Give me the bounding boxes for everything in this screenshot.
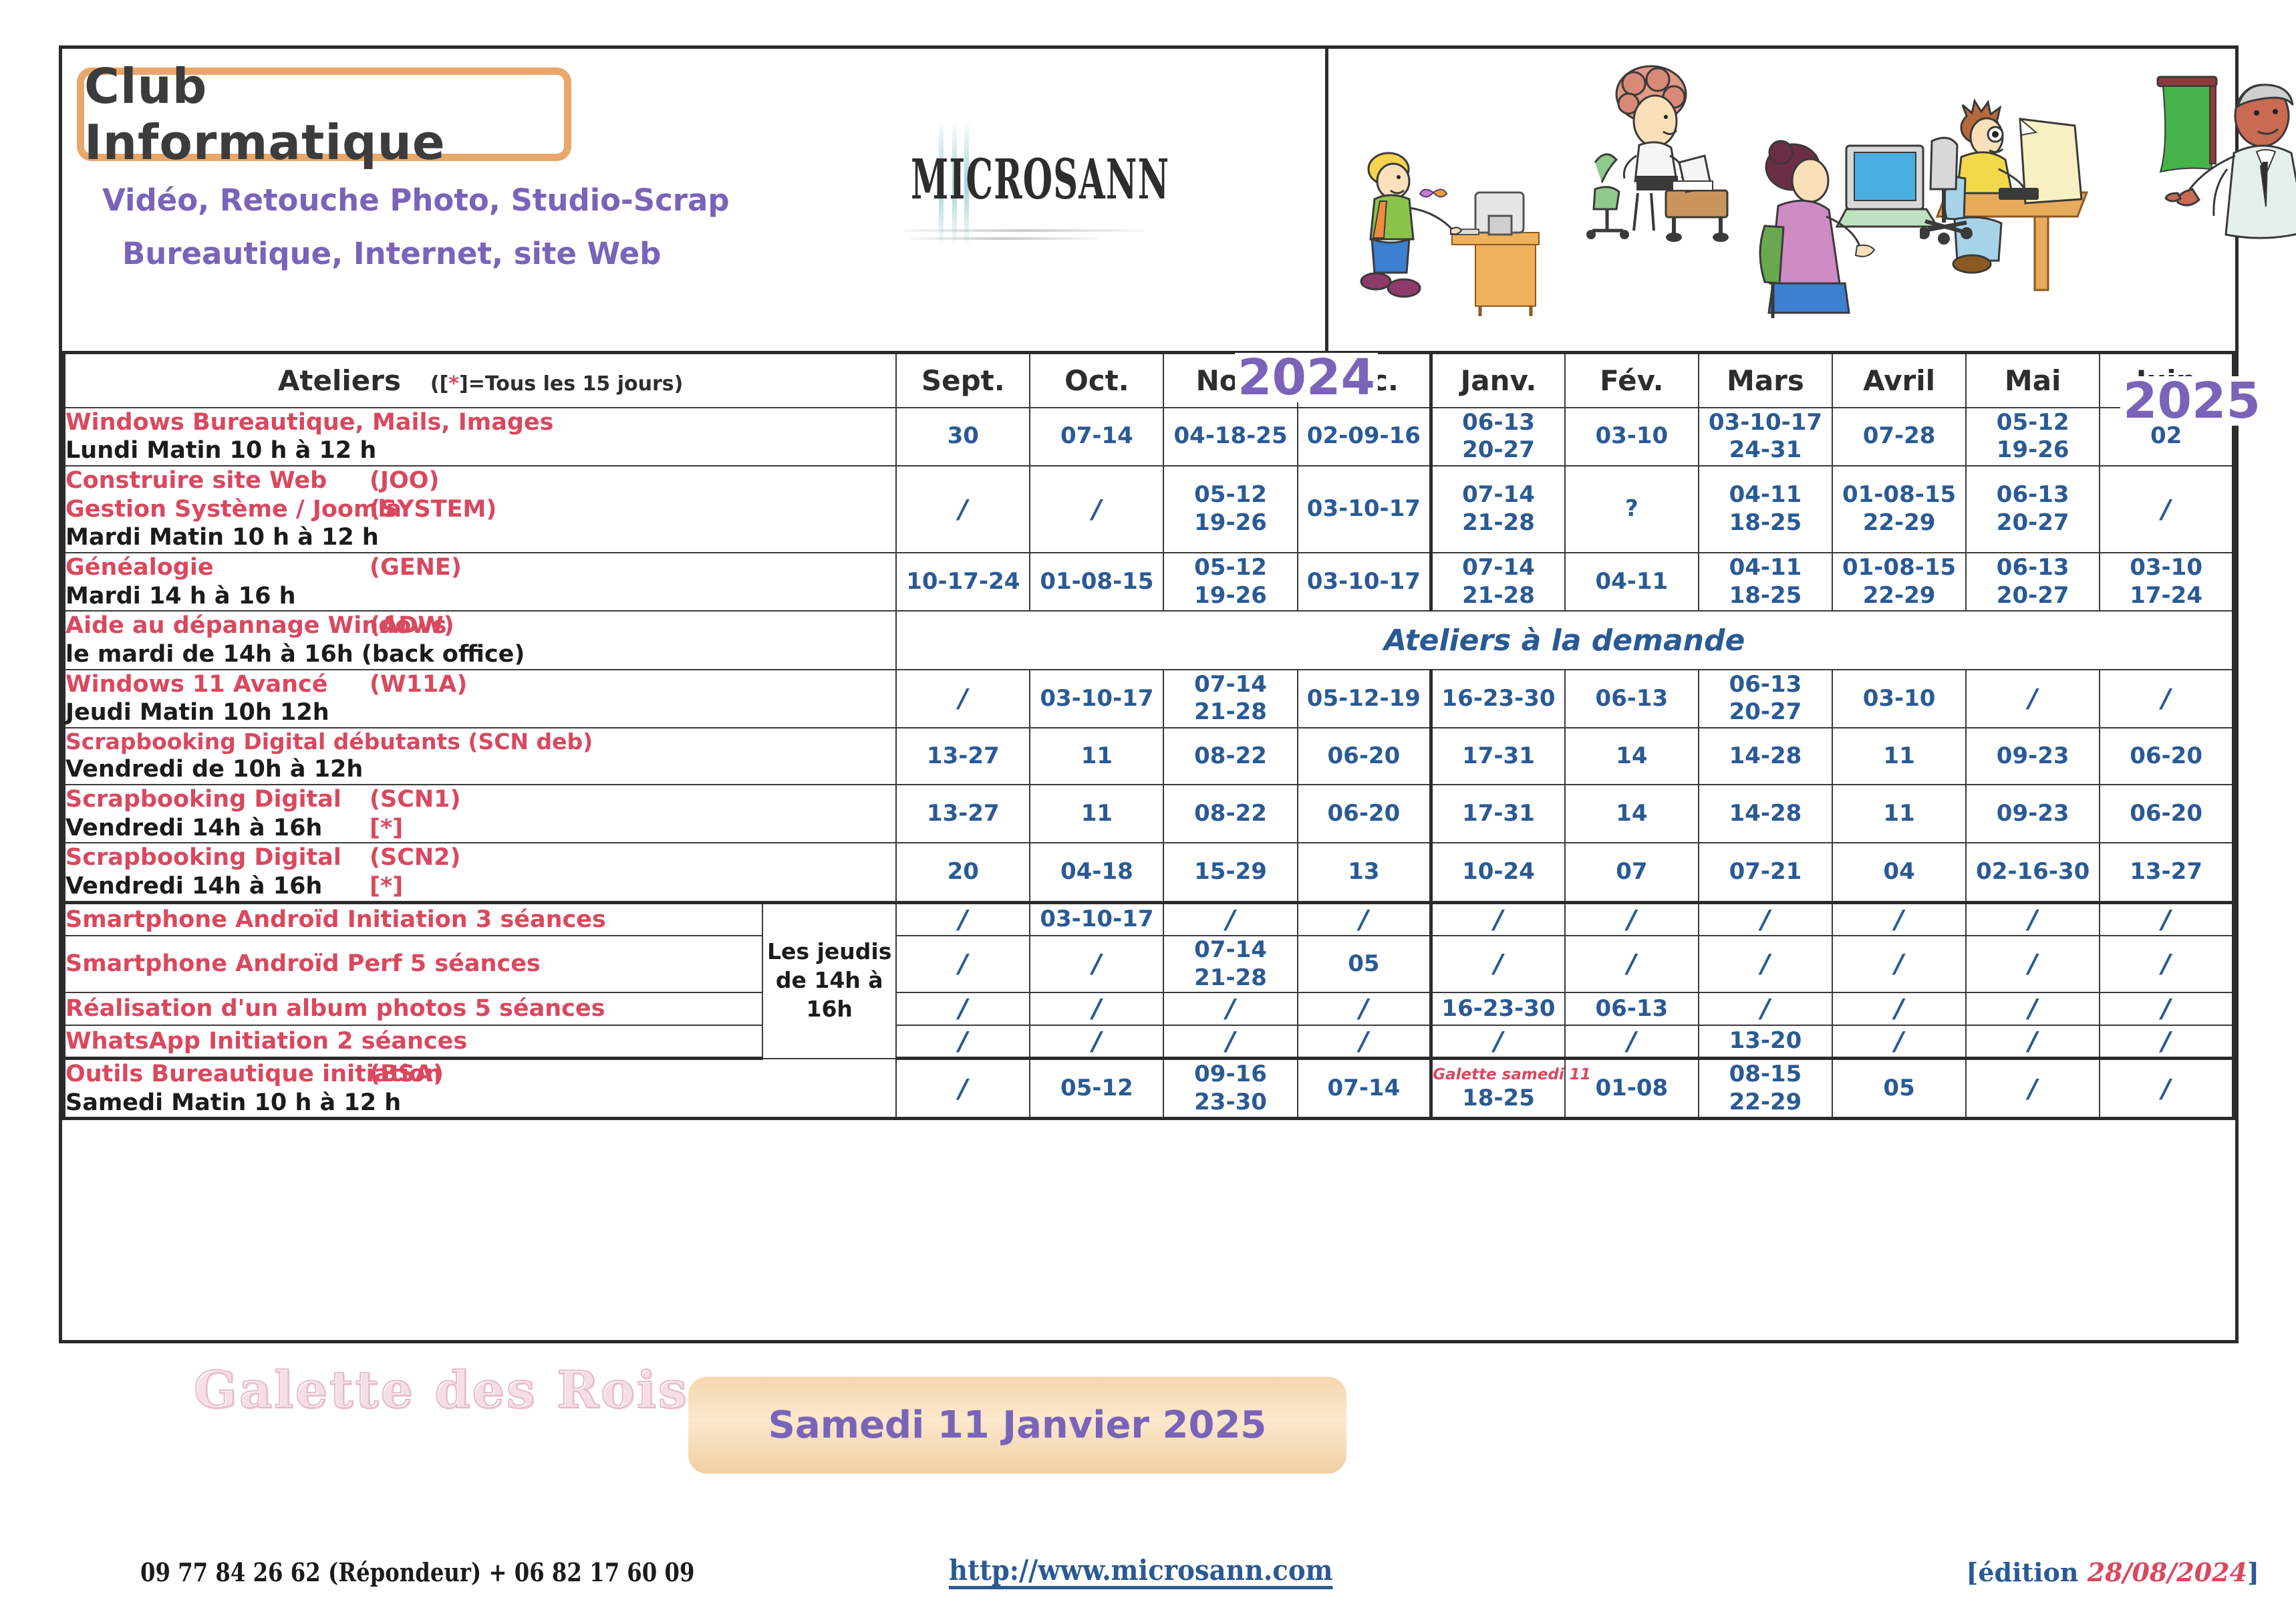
cell-r0-c3: 02-09-16 (1298, 408, 1431, 466)
cell-r2-c8: 06-1320-27 (1966, 553, 2100, 611)
cell-r7-c4: 10-24 (1431, 843, 1565, 902)
row-label-outils-bureautique: Outils Bureautique initiation(BSA) Samed… (64, 1059, 897, 1119)
cell-t3-c5: / (1565, 1025, 1699, 1059)
cell-r7-c2: 15-29 (1163, 843, 1297, 902)
table-row: Scrapbooking Digital débutants (SCN deb)… (64, 728, 2234, 785)
atelier-schedule: Mardi 14 h à 16 h (65, 582, 895, 611)
cell-t1-c0: / (896, 936, 1030, 992)
cell-t1-c8: / (1966, 936, 2100, 992)
cell-t0-c1: 03-10-17 (1030, 902, 1163, 936)
atelier-schedule-line: Vendredi 14h à 16h[*] (65, 814, 895, 843)
atelier-schedule: Samedi Matin 10 h à 12 h (65, 1089, 895, 1117)
cell-r0-c2: 04-18-25 (1163, 408, 1297, 466)
cell-r0-c8: 05-1219-26 (1966, 408, 2100, 466)
table-row: Scrapbooking Digital(SCN2) Vendredi 14h … (64, 843, 2234, 902)
footer-website-link[interactable]: http://www.microsann.com (949, 1554, 1332, 1587)
cell-r2-c3: 03-10-17 (1298, 553, 1431, 611)
cell-last-c7: 05 (1832, 1059, 1966, 1119)
cell-r7-c1: 04-18 (1030, 843, 1163, 902)
cell-r2-c2: 05-1219-26 (1163, 553, 1297, 611)
cell-t2-c5: 06-13 (1565, 992, 1699, 1025)
cell-t3-c8: / (1966, 1025, 2100, 1059)
cell-r7-c0: 20 (896, 843, 1030, 902)
atelier-code: (GENE) (370, 553, 462, 582)
atelier-title: Scrapbooking Digital (65, 843, 370, 872)
logo-wordmark: MICROSANN (911, 148, 1169, 212)
atelier-title: Construire site Web (65, 466, 370, 495)
atelier-schedule: Vendredi 14h à 16h (65, 872, 370, 901)
cell-t1-c3: 05 (1298, 936, 1431, 992)
galette-des-rois-title: Galette des Rois (194, 1360, 689, 1420)
atelier-title-line1: Scrapbooking Digital(SCN2) (65, 843, 895, 872)
cell-r2-c6: 04-1118-25 (1699, 553, 1832, 611)
thursdays-line-1: Les jeudis (763, 938, 895, 966)
month-header-fev: Fév. (1565, 353, 1699, 408)
atelier-title: Réalisation d'un album photos 5 séances (65, 994, 762, 1023)
table-row: Aide au dépannage Windows(ADW) le mardi … (64, 611, 2234, 669)
cell-r2-c0: 10-17-24 (896, 553, 1030, 611)
cell-r4-c2: 07-1421-28 (1163, 670, 1297, 728)
schedule-poster: Club Informatique Vidéo, Retouche Photo,… (0, 0, 2296, 1610)
cell-t2-c2: / (1163, 992, 1297, 1025)
cell-last-c8: / (1966, 1059, 2100, 1119)
atelier-frequency-note: [*] (370, 815, 403, 841)
cell-r0-c0: 30 (896, 408, 1030, 466)
cell-t0-c3: / (1298, 902, 1431, 936)
table-row: Scrapbooking Digital(SCN1) Vendredi 14h … (64, 785, 2234, 843)
table-row: Réalisation d'un album photos 5 séances … (64, 992, 2234, 1025)
cell-t0-c6: / (1699, 902, 1832, 936)
cell-t0-c9: / (2100, 902, 2233, 936)
cell-t1-c1: / (1030, 936, 1163, 992)
month-header-sept: Sept. (896, 353, 1030, 408)
cell-r6-c4: 17-31 (1431, 785, 1565, 843)
cell-r6-c6: 14-28 (1699, 785, 1832, 843)
cell-r5-c4: 17-31 (1431, 728, 1565, 785)
cell-t3-c6: 13-20 (1699, 1025, 1832, 1059)
cell-r5-c9: 06-20 (2100, 728, 2233, 785)
atelier-title-line1: Aide au dépannage Windows(ADW) (65, 612, 895, 640)
atelier-title: Scrapbooking Digital débutants (SCN deb) (65, 728, 895, 755)
cell-t3-c2: / (1163, 1025, 1297, 1059)
cell-t0-c7: / (1832, 902, 1966, 936)
cell-last-c0: / (896, 1059, 1030, 1119)
on-demand-banner: Ateliers à la demande (896, 611, 2233, 669)
cell-r4-c0: / (896, 670, 1030, 728)
cell-r5-c7: 11 (1832, 728, 1966, 785)
atelier-code: (BSA) (370, 1060, 444, 1089)
table-header-row: Ateliers ([*]=Tous les 15 jours) Sept. O… (64, 353, 2234, 408)
note-close: ]=Tous les 15 jours) (459, 372, 683, 396)
cell-r1-c6: 04-1118-25 (1699, 466, 1832, 553)
row-label-whatsapp-initiation: WhatsApp Initiation 2 séances (64, 1025, 763, 1059)
table-row: Smartphone Androïd Initiation 3 séances … (64, 902, 2234, 936)
atelier-title: Aide au dépannage Windows (65, 612, 370, 640)
atelier-code: (W11A) (370, 670, 467, 699)
month-header-avril: Avril (1832, 353, 1966, 408)
cell-r0-c7: 07-28 (1832, 408, 1966, 466)
row-label-aide-depannage: Aide au dépannage Windows(ADW) le mardi … (64, 611, 897, 669)
cell-r1-c8: 06-1320-27 (1966, 466, 2100, 553)
cell-t0-c0: / (896, 902, 1030, 936)
cell-r1-c9: / (2100, 466, 2233, 553)
cell-r4-c1: 03-10-17 (1030, 670, 1163, 728)
clipart-boy-at-desk-with-butterfly (1352, 129, 1552, 323)
cell-r4-c4: 16-23-30 (1431, 670, 1565, 728)
cell-t2-c9: / (2100, 992, 2233, 1025)
month-header-janv: Janv. (1431, 353, 1565, 408)
cell-r5-c3: 06-20 (1298, 728, 1431, 785)
cell-r7-c9: 13-27 (2100, 843, 2233, 902)
cell-t1-c4: / (1431, 936, 1565, 992)
cell-r4-c5: 06-13 (1565, 670, 1699, 728)
cell-r4-c9: / (2100, 670, 2233, 728)
cell-r6-c2: 08-22 (1163, 785, 1297, 843)
footer-edition: [édition 28/08/2024] (1966, 1557, 2259, 1587)
thursdays-line-3: 16h (763, 995, 895, 1024)
table-row: Smartphone Androïd Perf 5 séances / / 07… (64, 936, 2234, 992)
clipart-teacher-at-flipchart (2120, 69, 2296, 289)
cell-r5-c0: 13-27 (896, 728, 1030, 785)
row-label-scrapbooking-scn2: Scrapbooking Digital(SCN2) Vendredi 14h … (64, 843, 897, 902)
workshop-schedule-table: Ateliers ([*]=Tous les 15 jours) Sept. O… (62, 351, 2235, 1120)
atelier-title: Windows Bureautique, Mails, Images (65, 408, 895, 437)
atelier-schedule: Mardi Matin 10 h à 12 h (65, 523, 895, 552)
subtitle-line-1: Vidéo, Retouche Photo, Studio-Scrap (102, 182, 730, 218)
atelier-title-line2: Gestion Système / Joomla(SYSTEM) (65, 495, 895, 524)
atelier-schedule: le mardi de 14h à 16h (back office) (65, 640, 895, 669)
cell-t3-c0: / (896, 1025, 1030, 1059)
cell-t1-c2: 07-1421-28 (1163, 936, 1297, 992)
table-row: Généalogie(GENE) Mardi 14 h à 16 h 10-17… (64, 553, 2234, 611)
row-label-windows-11-avance: Windows 11 Avancé(W11A) Jeudi Matin 10h … (64, 670, 897, 728)
cell-t1-c7: / (1832, 936, 1966, 992)
note-open: ([ (430, 372, 448, 396)
table-row: Outils Bureautique initiation(BSA) Samed… (64, 1059, 2234, 1119)
cell-t2-c3: / (1298, 992, 1431, 1025)
year-label-2025: 2025 (2120, 376, 2263, 426)
footer-phone: 09 77 84 26 62 (Répondeur) + 06 82 17 60… (140, 1557, 694, 1587)
year-label-2024: 2024 (1235, 353, 1378, 402)
cell-t2-c4: 16-23-30 (1431, 992, 1565, 1025)
row-label-construire-site-web: Construire site Web(JOO) Gestion Système… (64, 466, 897, 553)
cell-t1-c5: / (1565, 936, 1699, 992)
cell-r0-c4: 06-1320-27 (1431, 408, 1565, 466)
cell-r6-c3: 06-20 (1298, 785, 1431, 843)
cell-t3-c4: / (1431, 1025, 1565, 1059)
atelier-code: (SCN1) (370, 785, 461, 814)
cell-t0-c2: / (1163, 902, 1297, 936)
header-band: Club Informatique Vidéo, Retouche Photo,… (62, 49, 2235, 351)
atelier-schedule: Jeudi Matin 10h 12h (65, 698, 895, 727)
cell-r6-c7: 11 (1832, 785, 1966, 843)
atelier-title-line1: Windows 11 Avancé(W11A) (65, 670, 895, 699)
month-header-oct: Oct. (1030, 353, 1163, 408)
cell-r7-c8: 02-16-30 (1966, 843, 2100, 902)
cell-r2-c1: 01-08-15 (1030, 553, 1163, 611)
atelier-title: Windows 11 Avancé (65, 670, 370, 699)
cell-r1-c5: ? (1565, 466, 1699, 553)
thursdays-note-cell: Les jeudis de 14h à 16h (762, 902, 896, 1058)
cell-t0-c4: / (1431, 902, 1565, 936)
cell-r7-c6: 07-21 (1699, 843, 1832, 902)
atelier-title-2: Gestion Système / Joomla (65, 495, 370, 524)
cell-t0-c5: / (1565, 902, 1699, 936)
cell-r1-c3: 03-10-17 (1298, 466, 1431, 553)
club-title: Club Informatique (84, 58, 564, 170)
month-header-mars: Mars (1699, 353, 1832, 408)
clipart-man-at-computer-desk (1920, 96, 2107, 296)
note-star: * (448, 372, 459, 396)
atelier-title: Généalogie (65, 553, 370, 582)
row-label-windows-bureautique: Windows Bureautique, Mails, Images Lundi… (64, 408, 897, 466)
cell-r0-c1: 07-14 (1030, 408, 1163, 466)
atelier-title: Scrapbooking Digital (65, 785, 370, 814)
cell-r6-c0: 13-27 (896, 785, 1030, 843)
atelier-title-line1: Outils Bureautique initiation(BSA) (65, 1060, 895, 1089)
atelier-schedule: Vendredi de 10h à 12h (65, 755, 895, 784)
atelier-code: (ADW) (370, 612, 454, 640)
atelier-title-line1: Scrapbooking Digital(SCN1) (65, 785, 895, 814)
row-label-genealogie: Généalogie(GENE) Mardi 14 h à 16 h (64, 553, 897, 611)
cell-r1-c1: / (1030, 466, 1163, 553)
clipart-woman-at-computer (1746, 132, 1940, 326)
galette-inline-note: Galette samedi 11 (1433, 1065, 1564, 1084)
cell-t1-c6: / (1699, 936, 1832, 992)
cell-r0-c5: 03-10 (1565, 408, 1699, 466)
cell-t1-c9: / (2100, 936, 2233, 992)
cell-t3-c1: / (1030, 1025, 1163, 1059)
cell-last-c6: 08-1522-29 (1699, 1059, 1832, 1119)
cell-r5-c2: 08-22 (1163, 728, 1297, 785)
cell-last-c1: 05-12 (1030, 1059, 1163, 1119)
edition-suffix: ] (2247, 1557, 2259, 1587)
header-right-clipart (1332, 49, 2235, 351)
atelier-title: Outils Bureautique initiation (65, 1060, 370, 1089)
atelier-schedule: Lundi Matin 10 h à 12 h (65, 436, 895, 465)
cell-r0-c6: 03-10-1724-31 (1699, 408, 1832, 466)
header-left: Club Informatique Vidéo, Retouche Photo,… (62, 49, 1328, 351)
table-row: Construire site Web(JOO) Gestion Système… (64, 466, 2234, 553)
atelier-title-line1: Généalogie(GENE) (65, 553, 895, 582)
atelier-title-line1: Construire site Web(JOO) (65, 466, 895, 495)
cell-r2-c7: 01-08-1522-29 (1832, 553, 1966, 611)
thursdays-line-2: de 14h à (763, 966, 895, 995)
atelier-code-2: (SYSTEM) (370, 495, 496, 524)
cell-last-c4: Galette samedi 11 18-25 (1431, 1059, 1565, 1119)
atelier-frequency-note: [*] (370, 873, 403, 900)
row-label-smartphone-initiation: Smartphone Androïd Initiation 3 séances (64, 902, 763, 936)
atelier-code: (JOO) (370, 466, 440, 495)
cell-last-c9: / (2100, 1059, 2233, 1119)
cell-t2-c6: / (1699, 992, 1832, 1025)
cell-r5-c6: 14-28 (1699, 728, 1832, 785)
poster-frame: Club Informatique Vidéo, Retouche Photo,… (59, 45, 2239, 1343)
cell-r1-c0: / (896, 466, 1030, 553)
cell-r4-c3: 05-12-19 (1298, 670, 1431, 728)
cell-t2-c1: / (1030, 992, 1163, 1025)
cell-t2-c7: / (1832, 992, 1966, 1025)
cell-r4-c6: 06-1320-27 (1699, 670, 1832, 728)
cell-r2-c9: 03-1017-24 (2100, 553, 2233, 611)
cell-r6-c9: 06-20 (2100, 785, 2233, 843)
cell-t2-c0: / (896, 992, 1030, 1025)
cell-r6-c1: 11 (1030, 785, 1163, 843)
table-row: Windows 11 Avancé(W11A) Jeudi Matin 10h … (64, 670, 2234, 728)
table-body: Windows Bureautique, Mails, Images Lundi… (64, 408, 2234, 1119)
cell-r7-c5: 07 (1565, 843, 1699, 902)
atelier-title: WhatsApp Initiation 2 séances (65, 1027, 762, 1056)
cell-r5-c5: 14 (1565, 728, 1699, 785)
cell-r5-c1: 11 (1030, 728, 1163, 785)
table-row: WhatsApp Initiation 2 séances / / / / / … (64, 1025, 2234, 1059)
atelier-code: (SCN2) (370, 843, 461, 872)
cell-r7-c7: 04 (1832, 843, 1966, 902)
cell-t2-c8: / (1966, 992, 2100, 1025)
cell-r1-c4: 07-1421-28 (1431, 466, 1565, 553)
subtitle-line-2: Bureautique, Internet, site Web (122, 236, 661, 271)
cell-last-c2: 09-1623-30 (1163, 1059, 1297, 1119)
cell-r4-c8: / (1966, 670, 2100, 728)
edition-date: 28/08/2024 (2088, 1557, 2247, 1587)
cell-r2-c4: 07-1421-28 (1431, 553, 1565, 611)
galette-date-badge: Samedi 11 Janvier 2025 (688, 1377, 1346, 1474)
row-label-album-photos: Réalisation d'un album photos 5 séances (64, 992, 763, 1025)
cell-r4-c7: 03-10 (1832, 670, 1966, 728)
cell-r5-c8: 09-23 (1966, 728, 2100, 785)
cell-t3-c3: / (1298, 1025, 1431, 1059)
cell-r2-c5: 04-11 (1565, 553, 1699, 611)
atelier-schedule-line: Vendredi 14h à 16h[*] (65, 872, 895, 901)
atelier-title: Smartphone Androïd Initiation 3 séances (65, 906, 762, 934)
atelier-header-label: Ateliers (278, 364, 401, 397)
cell-r7-c3: 13 (1298, 843, 1431, 902)
row-label-scrapbooking-debutants: Scrapbooking Digital débutants (SCN deb)… (64, 728, 897, 785)
microsann-logo: MICROSANN (897, 122, 1245, 249)
row-label-smartphone-perf: Smartphone Androïd Perf 5 séances (64, 936, 763, 992)
cell-r1-c7: 01-08-1522-29 (1832, 466, 1966, 553)
clipart-woman-with-printer (1572, 62, 1746, 269)
atelier-title: Smartphone Androïd Perf 5 séances (65, 950, 762, 978)
atelier-schedule: Vendredi 14h à 16h (65, 814, 370, 843)
cell-t3-c9: / (2100, 1025, 2233, 1059)
cell-r6-c8: 09-23 (1966, 785, 2100, 843)
month-header-mai: Mai (1966, 353, 2100, 408)
cell-t0-c8: / (1966, 902, 2100, 936)
cell-t3-c7: / (1832, 1025, 1966, 1059)
row-label-scrapbooking-scn1: Scrapbooking Digital(SCN1) Vendredi 14h … (64, 785, 897, 843)
edition-prefix: [édition (1966, 1557, 2087, 1587)
table-row: Windows Bureautique, Mails, Images Lundi… (64, 408, 2234, 466)
galette-date-label: Samedi 11 Janvier 2025 (768, 1403, 1267, 1447)
atelier-column-header: Ateliers ([*]=Tous les 15 jours) (64, 353, 897, 408)
cell-last-c3: 07-14 (1298, 1059, 1431, 1119)
cell-r6-c5: 14 (1565, 785, 1699, 843)
cell-r1-c2: 05-1219-26 (1163, 466, 1297, 553)
cell-last-c4-value: 18-25 (1462, 1085, 1535, 1111)
club-title-badge: Club Informatique (77, 68, 571, 161)
